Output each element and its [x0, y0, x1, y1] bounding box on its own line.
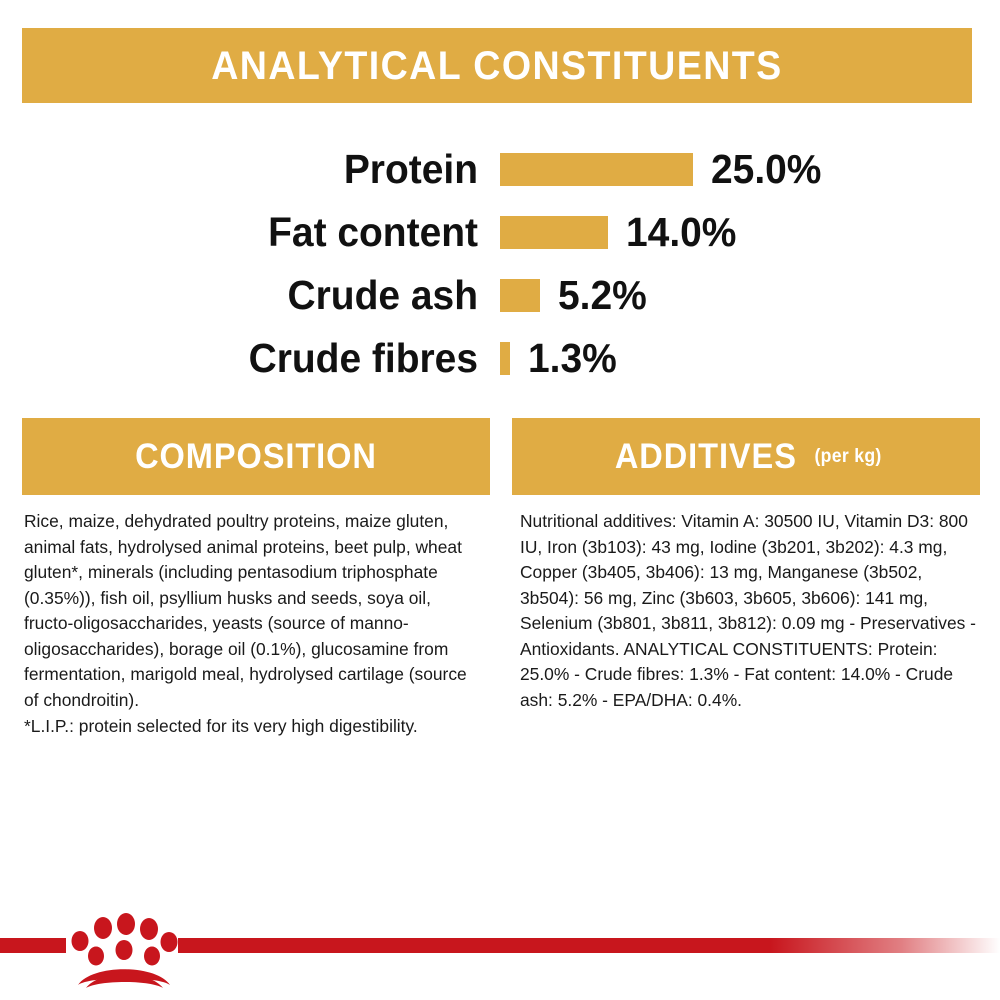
composition-body-text: Rice, maize, dehydrated poultry proteins… — [22, 495, 490, 739]
additives-heading: ADDITIVES — [615, 439, 797, 474]
info-columns: COMPOSITION Rice, maize, dehydrated poul… — [0, 418, 1000, 739]
chart-label-crude-ash: Crude ash — [24, 275, 478, 316]
chart-bar-group-fat-content: 14.0% — [500, 201, 742, 264]
brand-rule-right — [178, 938, 1000, 953]
chart-label-crude-fibres: Crude fibres — [24, 338, 478, 379]
chart-label-protein: Protein — [24, 149, 478, 190]
chart-row-protein: Protein 25.0% — [0, 138, 1000, 201]
analytical-constituents-chart: Protein 25.0% Fat content 14.0% Crude as… — [0, 138, 1000, 390]
chart-value-protein: 25.0% — [711, 149, 821, 190]
composition-column: COMPOSITION Rice, maize, dehydrated poul… — [22, 418, 490, 739]
chart-label-fat-content: Fat content — [24, 212, 478, 253]
chart-bar-crude-ash — [500, 279, 540, 312]
brand-rule-left — [0, 938, 66, 953]
chart-row-crude-fibres: Crude fibres 1.3% — [0, 327, 1000, 390]
chart-bar-group-crude-ash: 5.2% — [500, 264, 651, 327]
additives-banner: ADDITIVES (per kg) — [512, 418, 980, 495]
chart-value-fat-content: 14.0% — [626, 212, 736, 253]
brand-footer — [0, 890, 1000, 1000]
chart-value-crude-fibres: 1.3% — [528, 338, 617, 379]
composition-heading: COMPOSITION — [135, 439, 377, 474]
analytical-constituents-banner: ANALYTICAL CONSTITUENTS — [22, 28, 972, 103]
chart-bar-crude-fibres — [500, 342, 510, 375]
chart-bar-group-crude-fibres: 1.3% — [500, 327, 621, 390]
page-title: ANALYTICAL CONSTITUENTS — [211, 46, 782, 86]
chart-row-crude-ash: Crude ash 5.2% — [0, 264, 1000, 327]
additives-heading-suffix: (per kg) — [814, 447, 881, 466]
chart-value-crude-ash: 5.2% — [558, 275, 647, 316]
chart-row-fat-content: Fat content 14.0% — [0, 201, 1000, 264]
additives-column: ADDITIVES (per kg) Nutritional additives… — [512, 418, 980, 739]
royal-canin-crown-paw-icon — [66, 908, 182, 988]
chart-bar-protein — [500, 153, 693, 186]
composition-banner: COMPOSITION — [22, 418, 490, 495]
chart-bar-group-protein: 25.0% — [500, 138, 827, 201]
chart-bar-fat-content — [500, 216, 608, 249]
additives-body-text: Nutritional additives: Vitamin A: 30500 … — [512, 495, 980, 714]
